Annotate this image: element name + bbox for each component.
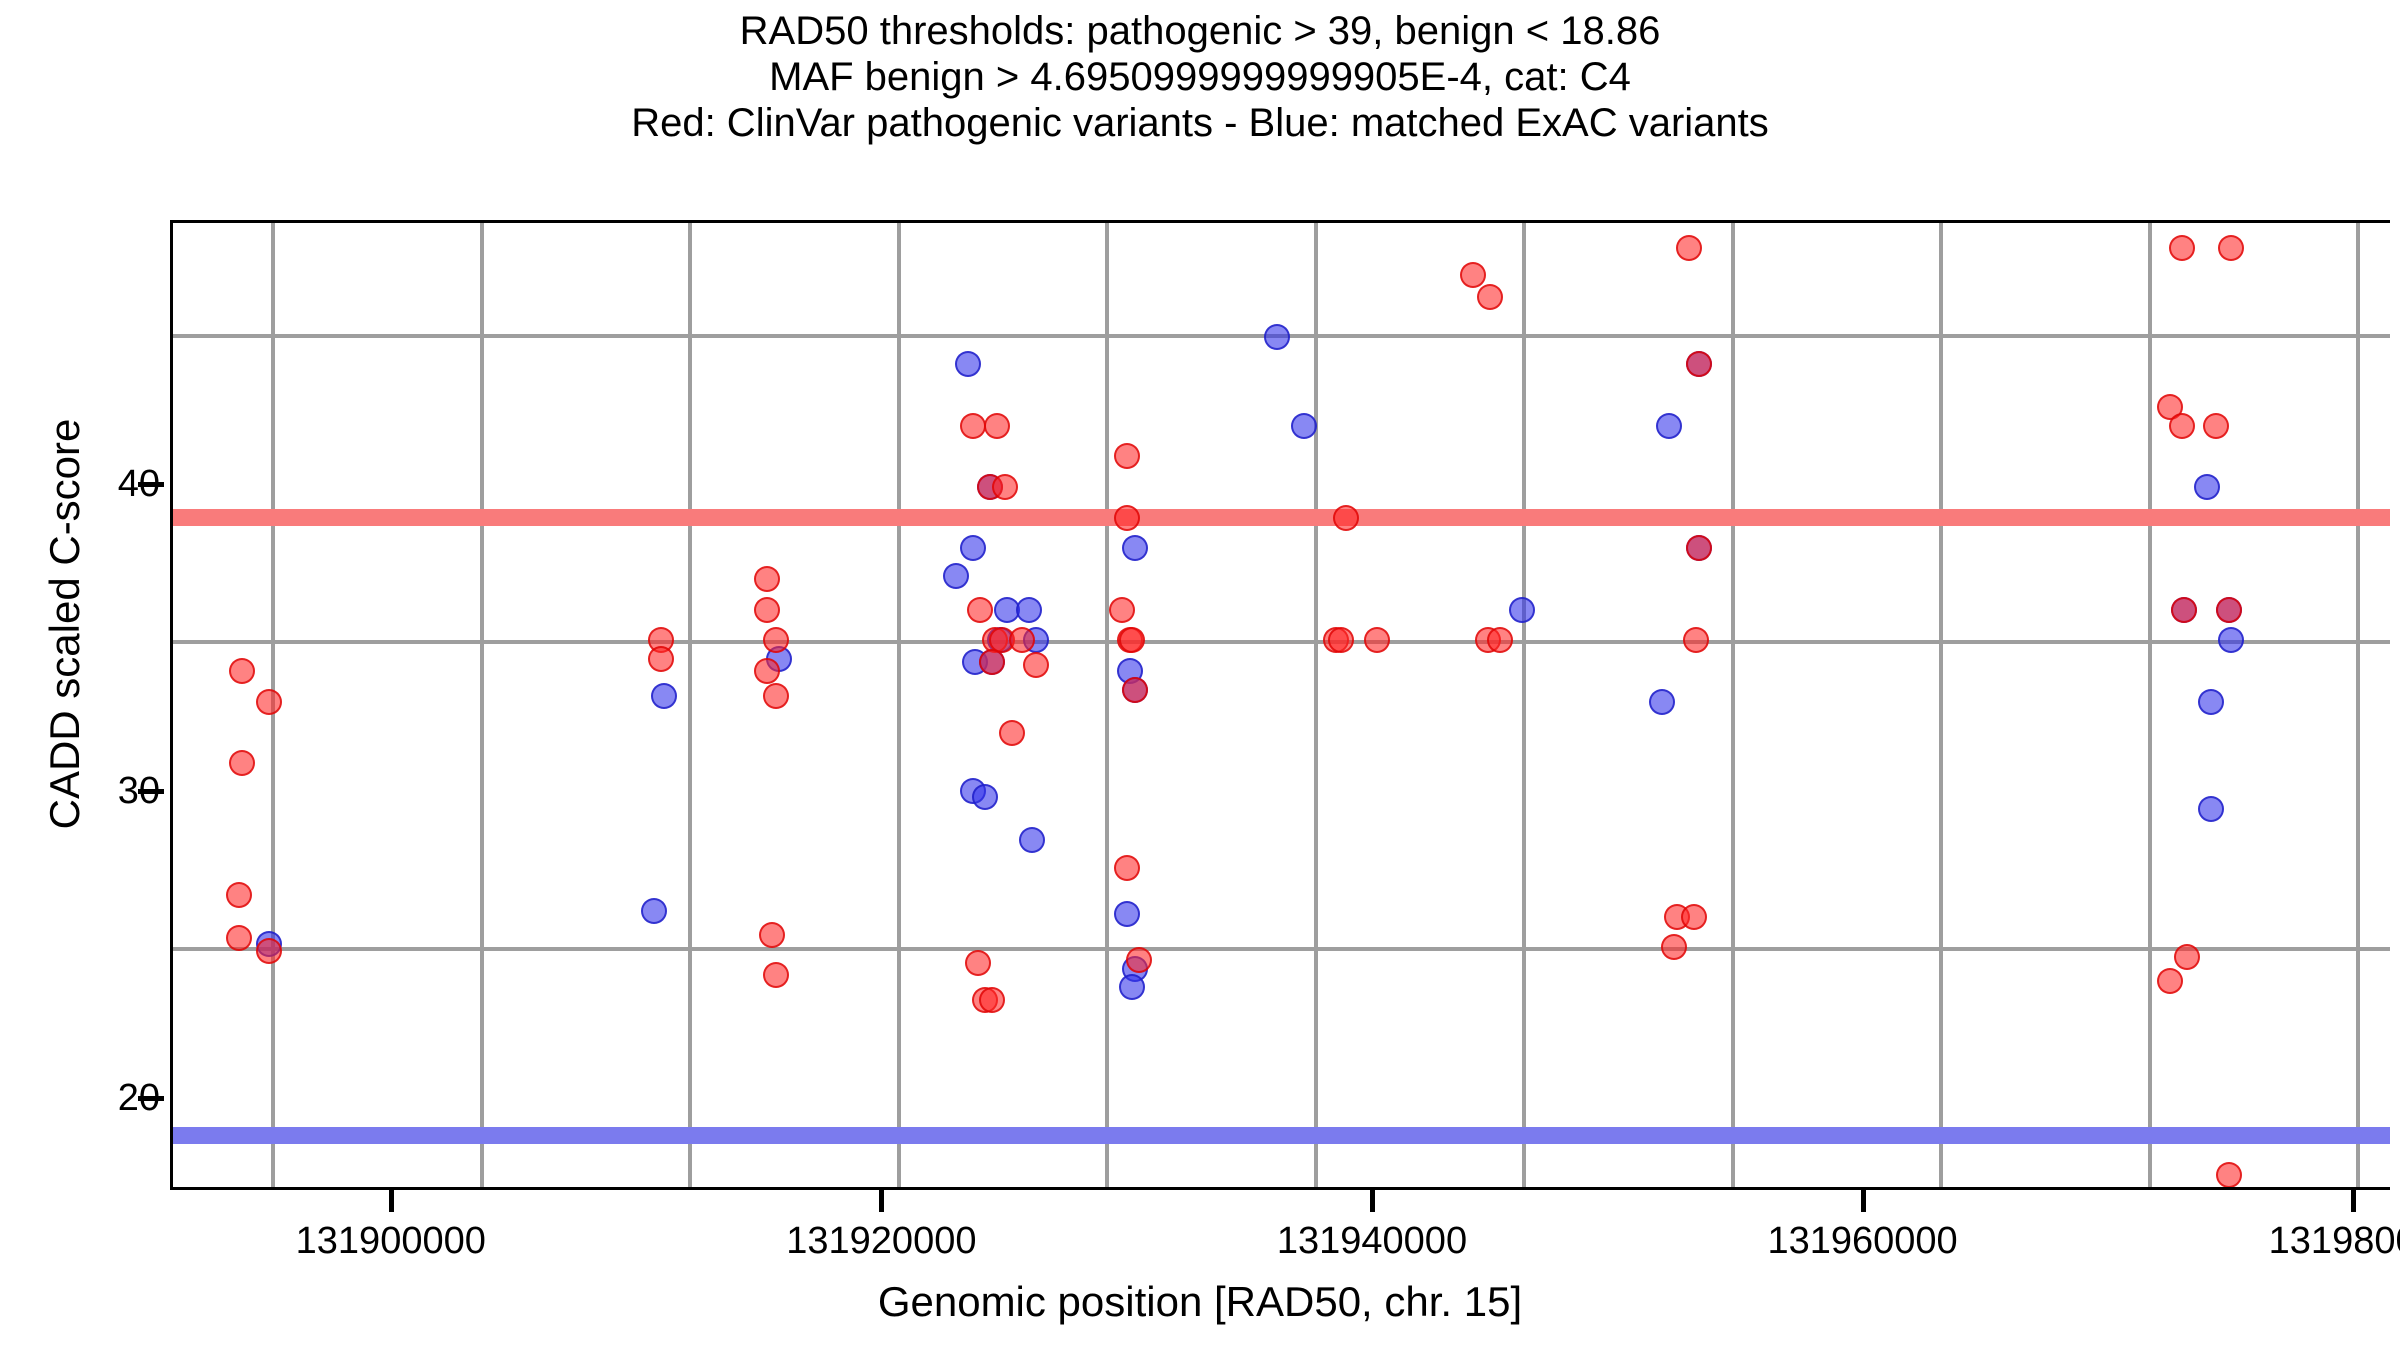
y-axis-label: CADD scaled C-score	[41, 304, 89, 944]
x-tick-label: 13198000	[2269, 1222, 2400, 1260]
x-tick-mark	[1861, 1190, 1866, 1212]
x-tick-mark	[1370, 1190, 1375, 1212]
x-axis-label: Genomic position [RAD50, chr. 15]	[0, 1278, 2400, 1326]
x-tick-mark	[2351, 1190, 2356, 1212]
x-tick-label: 131940000	[1277, 1222, 1467, 1260]
x-tick-mark	[389, 1190, 394, 1212]
x-tick-label: 131920000	[786, 1222, 976, 1260]
scatter-plot-figure: RAD50 thresholds: pathogenic > 39, benig…	[0, 0, 2400, 1350]
x-tick-label: 131900000	[296, 1222, 486, 1260]
x-tick-mark	[879, 1190, 884, 1212]
x-tick-label: 131960000	[1767, 1222, 1957, 1260]
x-axis: 1319000001319200001319400001319600001319…	[0, 0, 2400, 1350]
